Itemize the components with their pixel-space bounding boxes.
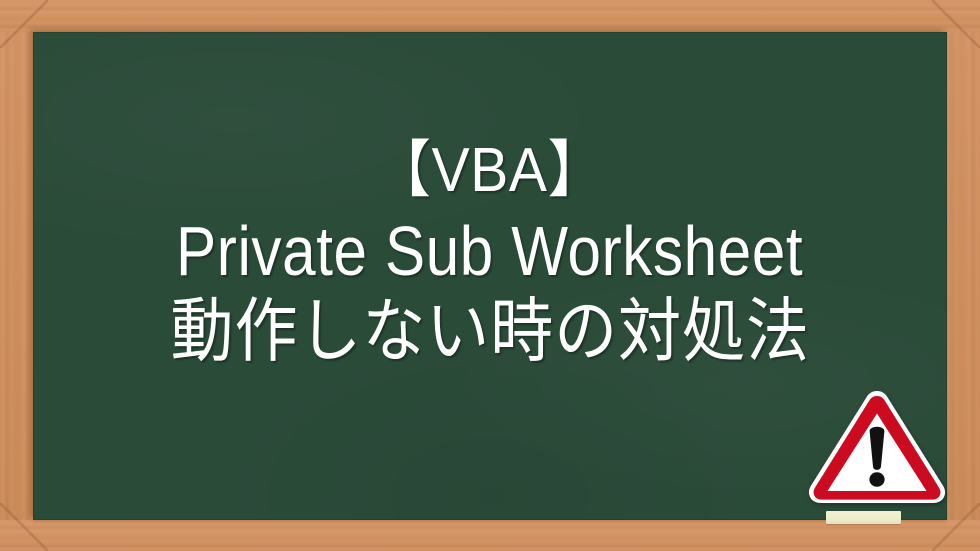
warning-triangle-icon [806,389,948,505]
frame-rail-bottom [0,520,980,551]
frame-rail-top [0,0,980,32]
chalkboard-thumbnail: 【VBA】 Private Sub Worksheet 動作しない時の対処法 [0,0,980,551]
chalk-stick [826,511,901,524]
